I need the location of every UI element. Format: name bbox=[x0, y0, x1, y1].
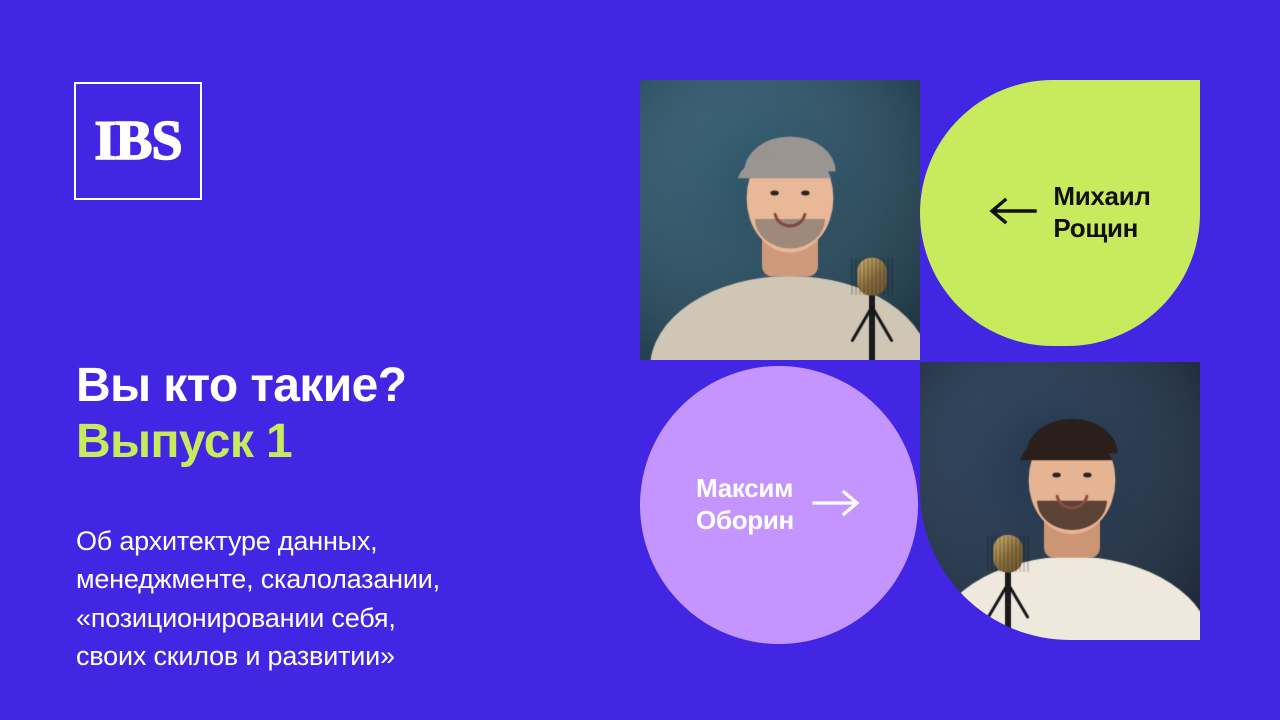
page-title: Вы кто такие? Выпуск 1 bbox=[76, 358, 616, 470]
guest-name-mikhail-line1: Михаил bbox=[1053, 181, 1150, 211]
guest-name-maksim-line1: Максим bbox=[696, 473, 793, 503]
subtitle: Об архитектуре данных, менеджменте, скал… bbox=[76, 522, 636, 675]
subtitle-line-1: Об архитектуре данных, bbox=[76, 522, 636, 560]
subtitle-line-3: «позиционировании себя, bbox=[76, 599, 636, 637]
guest-name-maksim: Максим Оборин bbox=[696, 473, 794, 536]
ibs-logo-text: IBS bbox=[94, 113, 181, 169]
guest-name-mikhail-line2: Рощин bbox=[1053, 213, 1138, 243]
portrait-image-top bbox=[640, 80, 920, 360]
guest-badge-mikhail[interactable]: Михаил Рощин bbox=[920, 80, 1200, 346]
guest-badge-maksim[interactable]: Максим Оборин bbox=[640, 366, 918, 644]
portrait-image-bottom bbox=[920, 362, 1200, 640]
photo-maksim-oborin bbox=[920, 362, 1200, 640]
arrow-left-icon bbox=[987, 196, 1037, 231]
title-line-2: Выпуск 1 bbox=[76, 414, 616, 470]
subtitle-line-2: менеджменте, скалолазании, bbox=[76, 560, 636, 598]
photo-mikhail-roshchin bbox=[640, 80, 920, 360]
ibs-logo: IBS bbox=[74, 82, 202, 200]
title-line-1: Вы кто такие? bbox=[76, 358, 616, 414]
guest-name-maksim-line2: Оборин bbox=[696, 505, 794, 535]
arrow-right-icon bbox=[812, 488, 862, 523]
subtitle-line-4: своих скилов и развитии» bbox=[76, 637, 636, 675]
guest-name-mikhail: Михаил Рощин bbox=[1053, 181, 1150, 244]
poster-canvas: IBS Вы кто такие? Выпуск 1 Об архитектур… bbox=[0, 0, 1280, 720]
